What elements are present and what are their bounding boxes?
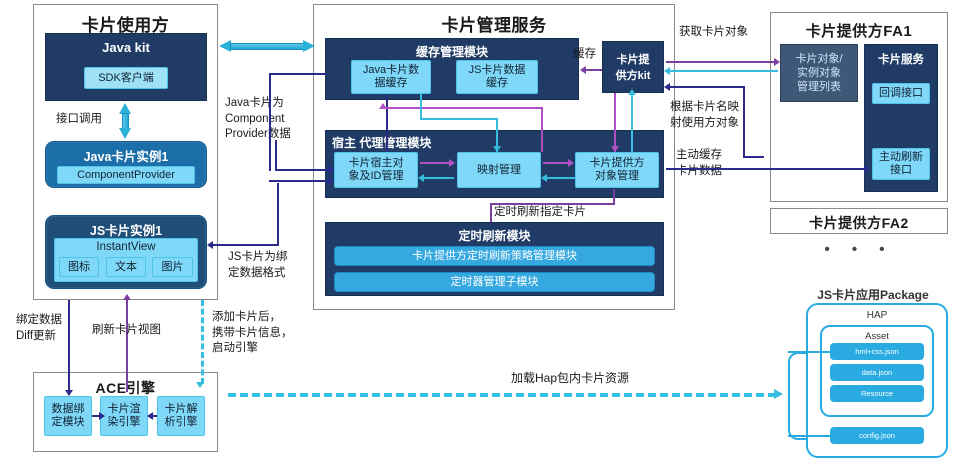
- line-kit-to-provider-object-head: [611, 146, 619, 152]
- interface-call-label: 接口调用: [56, 112, 122, 128]
- ace-card-parse-engine[interactable]: 卡片解 析引擎: [157, 396, 205, 436]
- label-map-by-card-name: 根据卡片名映 射使用方对象: [670, 100, 770, 131]
- sdk-client-chip[interactable]: SDK客户端: [84, 67, 168, 89]
- line-js-card-data-v: [277, 183, 279, 246]
- label-cache: 缓存: [573, 47, 601, 63]
- line-refresh-card-view: [126, 298, 128, 392]
- card-service-title: 卡片服务: [865, 51, 937, 67]
- card-object-instance-list[interactable]: 卡片对象/ 实例对象 管理列表: [780, 44, 858, 102]
- line-map-h1: [670, 86, 745, 88]
- line-provider-to-mapping: [545, 177, 575, 179]
- line-java-card-data-h3: [269, 180, 334, 182]
- line-host-to-mapping-head: [449, 159, 455, 167]
- package-brace-bottom: [788, 435, 832, 437]
- line-bind-data-diff-head: [65, 390, 73, 396]
- line-mapping-up-1-h: [382, 107, 543, 109]
- line-provider-object-to-kit: [631, 93, 633, 152]
- line-kit-to-provider-object: [614, 93, 616, 152]
- package-brace: [788, 352, 808, 440]
- java-card-instance-title: Java卡片实例1: [46, 146, 206, 165]
- label-js-card-data: JS卡片为绑 定数据格式: [228, 250, 312, 281]
- panel-provider-fa1-title: 卡片提供方FA1: [771, 20, 947, 41]
- label-start-engine: 添加卡片后， 携带卡片信息， 启动引擎: [212, 310, 312, 357]
- js-package-title: JS卡片应用Package: [790, 286, 956, 303]
- line-start-engine-head: [196, 382, 204, 388]
- line-provider-to-mapping-head: [541, 174, 547, 182]
- line-java-card-data-head: [328, 166, 334, 174]
- ace-arrow-bind-to-render-head: [99, 412, 105, 420]
- line-kit-to-cache: [586, 69, 602, 71]
- js-chip-icon[interactable]: 图标: [59, 257, 99, 277]
- ace-card-render-engine[interactable]: 卡片渲 染引擎: [100, 396, 148, 436]
- hap-label: HAP: [808, 310, 946, 321]
- line-java-card-data-h2: [275, 169, 334, 171]
- line-mapping-to-provider-head: [568, 159, 574, 167]
- line-fa1-to-kit-head: [664, 67, 670, 75]
- line-active-cache-h: [666, 168, 866, 170]
- line-load-hap-resource: [228, 393, 776, 397]
- line-mapping-to-host-head: [418, 174, 424, 182]
- line-mapping-up-1: [541, 107, 543, 152]
- line-start-engine: [201, 300, 204, 384]
- label-bind-data-diff: 绑定数据 Diff更新: [16, 313, 86, 344]
- asset-label: Asset: [822, 331, 932, 342]
- consumer-service-bidirectional-arrow: [219, 40, 315, 53]
- line-java-card-data-v2: [275, 140, 277, 171]
- line-get-card-object: [666, 61, 776, 63]
- label-refresh-card-view: 刷新卡片视图: [92, 323, 178, 339]
- java-kit-title: Java kit: [46, 40, 206, 55]
- line-load-hap-resource-head: [774, 389, 783, 399]
- line-java-card-data-v1: [269, 73, 271, 171]
- label-load-hap-resource: 加载Hap包内卡片资源: [480, 370, 660, 386]
- timer-management-sub-chip[interactable]: 定时器管理子模块: [334, 272, 655, 292]
- timer-module-title: 定时刷新模块: [326, 227, 663, 244]
- provider-refresh-policy-chip[interactable]: 卡片提供方定时刷新策略管理模块: [334, 246, 655, 266]
- label-get-card-object: 获取卡片对象: [679, 25, 777, 41]
- line-js-cache-to-mapping-head: [493, 146, 501, 152]
- interface-call-arrow: [119, 103, 132, 139]
- line-js-cache-to-mapping: [420, 94, 422, 118]
- instant-view-title: InstantView: [55, 241, 197, 254]
- line-fa1-to-kit: [670, 70, 778, 72]
- line-kit-to-cache-head: [580, 66, 586, 74]
- active-refresh-interface-chip[interactable]: 主动刷新 接口: [872, 148, 930, 180]
- line-get-card-object-head: [774, 58, 780, 66]
- label-java-card-data: Java卡片为 Component Provider数据: [225, 96, 321, 143]
- callback-interface-chip[interactable]: 回调接口: [872, 83, 930, 104]
- panel-provider-fa2-title: 卡片提供方FA2: [771, 213, 947, 233]
- line-java-card-data-h1: [269, 73, 327, 75]
- label-timed-refresh-card: 定时刷新指定卡片: [480, 205, 600, 221]
- line-mapping-to-provider: [543, 162, 570, 164]
- line-js-cache-to-mapping-h: [420, 118, 498, 120]
- card-host-object-id-chip[interactable]: 卡片宿主对 象及ID管理: [334, 152, 418, 188]
- line-js-card-data-head: [207, 241, 213, 249]
- component-provider-chip[interactable]: ComponentProvider: [57, 166, 195, 184]
- panel-provider-fa2: 卡片提供方FA2: [770, 208, 948, 234]
- card-provider-kit-label: 卡片提 供方kit: [603, 51, 663, 83]
- line-js-card-data-h: [212, 244, 279, 246]
- label-active-cache-card-data: 主动缓存 卡片数据: [676, 148, 766, 179]
- card-provider-kit-box[interactable]: 卡片提 供方kit: [602, 41, 664, 93]
- line-map-head: [664, 83, 670, 91]
- js-chip-text[interactable]: 文本: [106, 257, 146, 277]
- line-timed-refresh-h: [490, 203, 615, 205]
- line-mapping-up-1-head: [379, 103, 387, 109]
- line-timed-refresh-v2: [613, 189, 615, 204]
- card-provider-object-chip[interactable]: 卡片提供方 对象管理: [575, 152, 659, 188]
- js-card-data-cache-chip[interactable]: JS卡片数据 缓存: [456, 60, 538, 94]
- ace-arrow-parse-to-render-head: [147, 412, 153, 420]
- config-file-chip[interactable]: config.json: [830, 427, 924, 444]
- package-brace-top: [788, 351, 832, 353]
- provider-fa2-ellipsis: • • •: [770, 241, 948, 258]
- line-host-to-mapping: [420, 162, 450, 164]
- java-card-data-cache-chip[interactable]: Java卡片数 据缓存: [351, 60, 431, 94]
- line-timed-refresh-v1: [490, 203, 492, 222]
- asset-file-data-json[interactable]: data.json: [830, 364, 924, 381]
- line-java-card-data-head2: [328, 177, 334, 185]
- cache-module-title: 缓存管理模块: [326, 43, 578, 60]
- line-mapping-to-host: [422, 177, 454, 179]
- asset-file-resource[interactable]: Resource: [830, 385, 924, 402]
- panel-service-title: 卡片管理服务: [314, 11, 674, 36]
- js-card-instance-title: JS卡片实例1: [46, 220, 206, 239]
- line-active-cache-head: [864, 165, 870, 173]
- js-chip-image[interactable]: 图片: [152, 257, 193, 277]
- line-refresh-card-view-head: [123, 294, 131, 300]
- mapping-management-chip[interactable]: 映射管理: [457, 152, 541, 188]
- asset-file-hml-css[interactable]: hml+css.json: [830, 343, 924, 360]
- line-provider-object-to-kit-head: [628, 89, 636, 95]
- ace-data-binding-module[interactable]: 数据绑 定模块: [44, 396, 92, 436]
